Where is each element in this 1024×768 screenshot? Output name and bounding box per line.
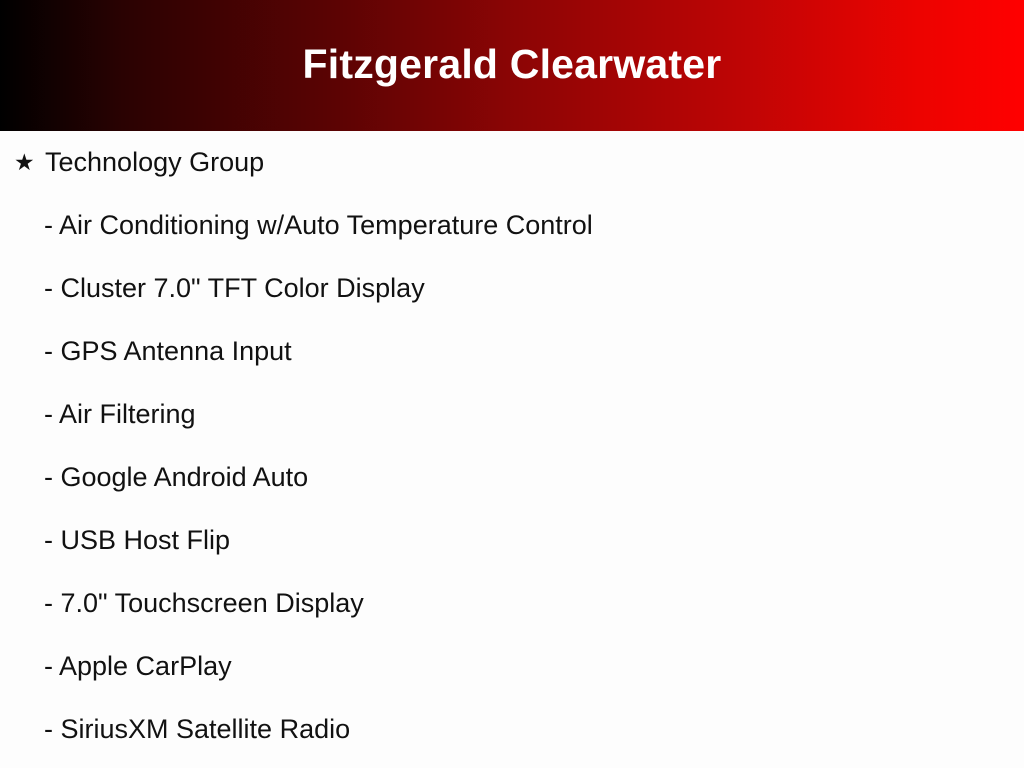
feature-label: - Air Filtering: [44, 401, 196, 428]
feature-label: - Cluster 7.0" TFT Color Display: [44, 275, 425, 302]
list-item: - Cluster 7.0" TFT Color Display: [0, 257, 1024, 320]
feature-label: - Google Android Auto: [44, 464, 308, 491]
list-item: - Air Filtering: [0, 383, 1024, 446]
list-item: - Apple CarPlay: [0, 635, 1024, 698]
feature-label: - Apple CarPlay: [44, 653, 232, 680]
header-banner: Fitzgerald Clearwater: [0, 0, 1024, 131]
list-item: - Google Android Auto: [0, 446, 1024, 509]
list-item: - 7.0" Touchscreen Display: [0, 572, 1024, 635]
feature-group-label: Technology Group: [45, 149, 264, 176]
feature-list: ★ Technology Group - Air Conditioning w/…: [0, 131, 1024, 768]
star-icon: ★: [14, 152, 34, 172]
list-item: - USB Host Flip: [0, 509, 1024, 572]
list-item: - SiriusXM Satellite Radio: [0, 698, 1024, 761]
list-item: - Air Conditioning w/Auto Temperature Co…: [0, 194, 1024, 257]
feature-label: - Air Conditioning w/Auto Temperature Co…: [44, 212, 593, 239]
page-title: Fitzgerald Clearwater: [303, 44, 722, 85]
feature-group-heading: ★ Technology Group: [0, 131, 1024, 194]
slide: Fitzgerald Clearwater ★ Technology Group…: [0, 0, 1024, 768]
feature-label: - GPS Antenna Input: [44, 338, 292, 365]
feature-label: - USB Host Flip: [44, 527, 230, 554]
feature-label: - 7.0" Touchscreen Display: [44, 590, 364, 617]
list-item: - GPS Antenna Input: [0, 320, 1024, 383]
feature-label: - SiriusXM Satellite Radio: [44, 716, 350, 743]
